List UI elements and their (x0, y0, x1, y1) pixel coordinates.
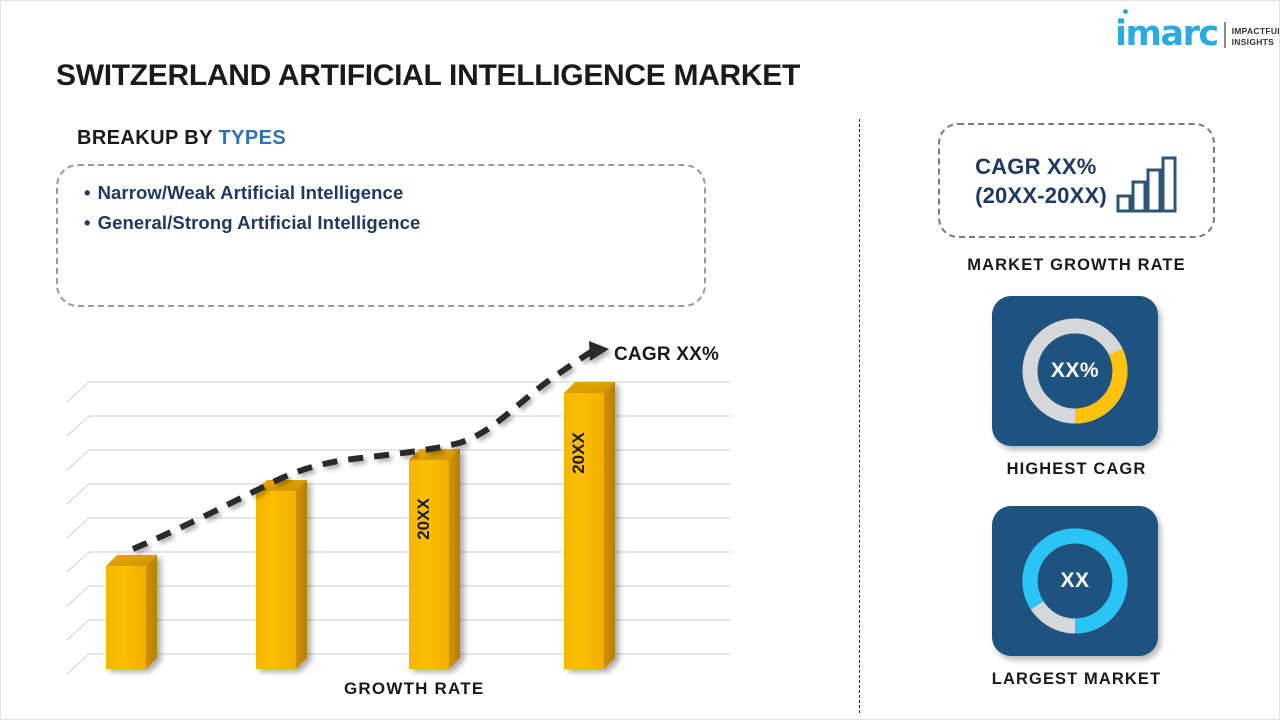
bar-3 (409, 449, 460, 669)
breakup-types-box: Narrow/Weak Artificial Intelligence Gene… (56, 164, 706, 307)
ascending-bars-icon (1116, 155, 1178, 213)
growth-rate-bar-chart: 20XX 20XX CAGR XX% GROWTH RATE (61, 331, 761, 701)
imarc-logo: imarc IMPACTFUL INSIGHTS (1115, 9, 1280, 51)
panel-divider (859, 119, 860, 713)
logo-wordmark: imarc (1115, 17, 1218, 51)
chart-svg: 20XX 20XX (61, 331, 761, 676)
bar-4 (564, 382, 615, 669)
chart-x-axis-label: GROWTH RATE (344, 679, 484, 699)
infographic-page: imarc IMPACTFUL INSIGHTS SWITZERLAND ART… (0, 0, 1280, 720)
chart-trend-label: CAGR XX% (614, 344, 719, 366)
logo-tagline: IMPACTFUL INSIGHTS (1232, 26, 1280, 51)
bar-3-label: 20XX (414, 498, 433, 540)
bar-4-label: 20XX (569, 432, 588, 474)
largest-market-caption: LARGEST MARKET (938, 670, 1215, 689)
cagr-period: (20XX-20XX) (975, 181, 1107, 210)
largest-market-card: XX (992, 506, 1158, 656)
market-growth-rate-caption: MARKET GROWTH RATE (938, 256, 1215, 275)
list-item: Narrow/Weak Artificial Intelligence (84, 178, 704, 208)
breakup-heading: BREAKUP BY TYPES (77, 127, 286, 150)
logo-divider (1224, 22, 1226, 48)
highest-cagr-card: XX% (992, 296, 1158, 446)
page-title: SWITZERLAND ARTIFICIAL INTELLIGENCE MARK… (56, 59, 800, 93)
logo-tagline-line-1: IMPACTFUL (1232, 26, 1280, 37)
breakup-heading-prefix: BREAKUP BY (77, 127, 218, 149)
logo-tagline-line-2: INSIGHTS (1232, 37, 1280, 48)
logo-dot-icon (1123, 9, 1128, 14)
cagr-value: CAGR XX% (975, 152, 1107, 181)
highest-cagr-value: XX% (992, 296, 1158, 446)
list-item: General/Strong Artificial Intelligence (84, 208, 704, 238)
market-growth-rate-text: CAGR XX% (20XX-20XX) (975, 152, 1107, 210)
largest-market-value: XX (992, 506, 1158, 656)
market-growth-rate-box: CAGR XX% (20XX-20XX) (938, 123, 1215, 238)
chart-gridlines (67, 382, 731, 674)
highest-cagr-caption: HIGHEST CAGR (938, 460, 1215, 479)
breakup-heading-accent: TYPES (218, 127, 286, 149)
logo-wordmark-text: imarc (1115, 14, 1218, 54)
breakup-types-list: Narrow/Weak Artificial Intelligence Gene… (58, 166, 704, 238)
bar-1 (106, 555, 157, 669)
bar-2 (256, 480, 307, 669)
